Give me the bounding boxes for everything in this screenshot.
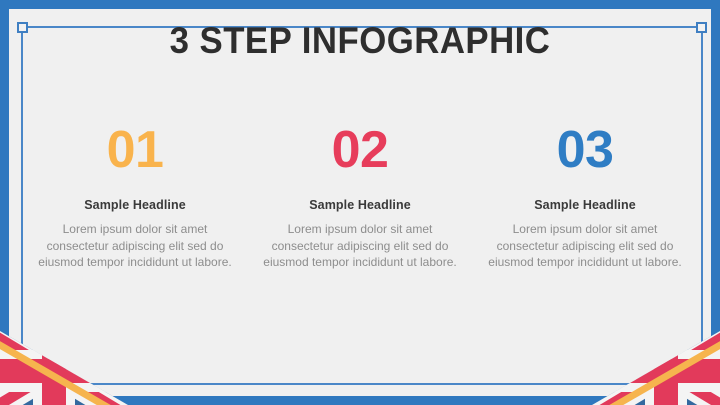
- slide-frame-left: [0, 0, 9, 405]
- step-number-01: 01: [26, 124, 244, 177]
- step-body-03: Lorem ipsum dolor sit amet consectetur a…: [476, 221, 694, 271]
- slide-frame-right: [711, 0, 720, 405]
- page-title: 3 STEP INFOGRAPHIC: [22, 20, 699, 62]
- step-item-03: 03 Sample Headline Lorem ipsum dolor sit…: [476, 124, 694, 271]
- step-number-03: 03: [476, 124, 694, 177]
- step-body-02: Lorem ipsum dolor sit amet consectetur a…: [251, 221, 469, 271]
- slide-frame-top: [0, 0, 720, 9]
- step-headline-01: Sample Headline: [26, 198, 244, 212]
- slide-frame-bottom: [0, 396, 720, 405]
- steps-row: 01 Sample Headline Lorem ipsum dolor sit…: [26, 124, 694, 271]
- step-number-02: 02: [251, 124, 469, 177]
- step-item-02: 02 Sample Headline Lorem ipsum dolor sit…: [251, 124, 469, 271]
- step-headline-03: Sample Headline: [476, 198, 694, 212]
- slide-canvas: 3 STEP INFOGRAPHIC 01 Sample Headline Lo…: [0, 0, 720, 405]
- step-headline-02: Sample Headline: [251, 198, 469, 212]
- step-item-01: 01 Sample Headline Lorem ipsum dolor sit…: [26, 124, 244, 271]
- step-body-01: Lorem ipsum dolor sit amet consectetur a…: [26, 221, 244, 271]
